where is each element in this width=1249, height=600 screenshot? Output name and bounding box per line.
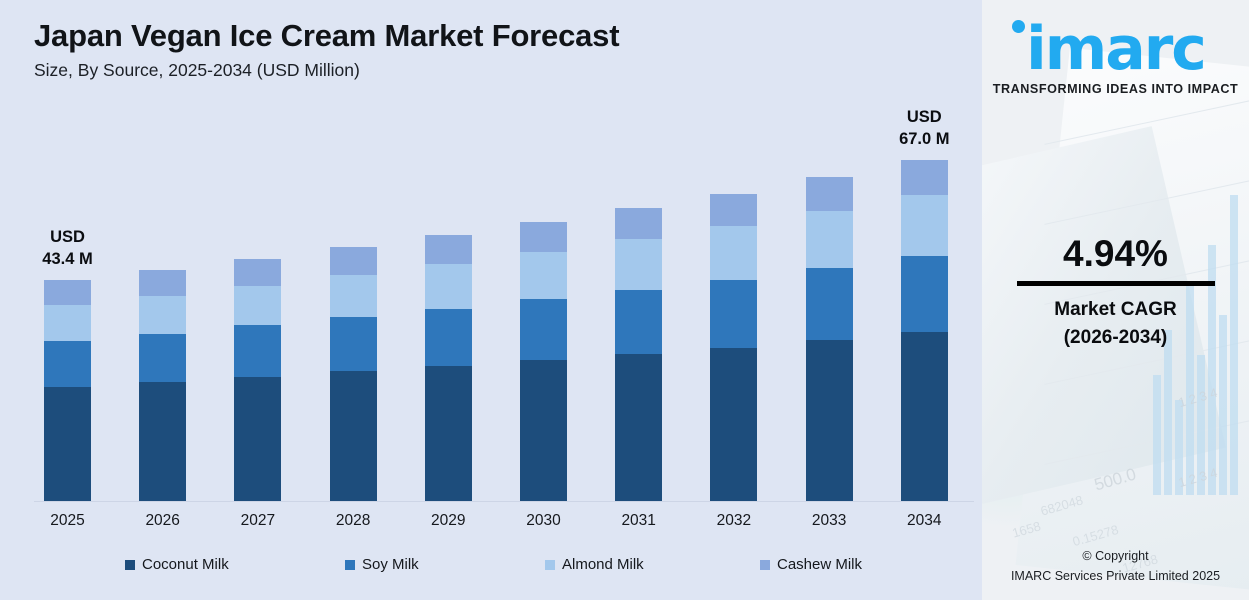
bar-segment-cashew-milk[interactable]: [710, 194, 757, 227]
x-tick-2028: 2028: [308, 512, 398, 530]
first-value-line2: 43.4 M: [8, 248, 128, 270]
bar-segment-coconut-milk[interactable]: [710, 348, 757, 501]
bar-segment-soy-milk[interactable]: [234, 325, 281, 376]
last-bar-value-label: USD 67.0 M: [864, 106, 984, 151]
bar-segment-almond-milk[interactable]: [234, 286, 281, 326]
bar-segment-almond-milk[interactable]: [806, 211, 853, 269]
x-tick-2027: 2027: [213, 512, 303, 530]
bar-segment-almond-milk[interactable]: [425, 264, 472, 309]
bar-segment-coconut-milk[interactable]: [330, 371, 377, 501]
x-axis-labels: 2025202620272028202920302031203220332034: [20, 512, 972, 536]
bar-group-2033[interactable]: [806, 177, 853, 501]
bar-segment-cashew-milk[interactable]: [44, 280, 91, 305]
x-tick-2031: 2031: [594, 512, 684, 530]
cagr-value: 4.94%: [982, 234, 1249, 275]
x-tick-2030: 2030: [499, 512, 589, 530]
bar-segment-soy-milk[interactable]: [44, 341, 91, 387]
bar-group-2032[interactable]: [710, 194, 757, 501]
x-tick-2034: 2034: [879, 512, 969, 530]
legend-item-coconut-milk[interactable]: Coconut Milk: [125, 556, 229, 573]
bar-segment-cashew-milk[interactable]: [806, 177, 853, 211]
first-bar-value-label: USD 43.4 M: [8, 226, 128, 271]
bar-segment-soy-milk[interactable]: [615, 290, 662, 354]
bar-segment-cashew-milk[interactable]: [520, 222, 567, 252]
bar-group-2025[interactable]: [44, 280, 91, 501]
bar-segment-coconut-milk[interactable]: [44, 387, 91, 502]
last-value-line2: 67.0 M: [864, 128, 984, 150]
bar-segment-coconut-milk[interactable]: [520, 360, 567, 501]
last-value-line1: USD: [907, 108, 942, 126]
bar-segment-soy-milk[interactable]: [330, 317, 377, 371]
x-tick-2025: 2025: [23, 512, 113, 530]
bar-segment-soy-milk[interactable]: [710, 280, 757, 348]
bar-segment-cashew-milk[interactable]: [615, 208, 662, 239]
copyright-block: © Copyright IMARC Services Private Limit…: [982, 547, 1249, 586]
chart-legend: Coconut MilkSoy MilkAlmond MilkCashew Mi…: [20, 556, 972, 580]
bar-group-2028[interactable]: [330, 247, 377, 501]
bar-segment-cashew-milk[interactable]: [330, 247, 377, 275]
bar-segment-almond-milk[interactable]: [520, 252, 567, 300]
legend-item-cashew-milk[interactable]: Cashew Milk: [760, 556, 862, 573]
decorative-mini-bar: [1153, 375, 1161, 495]
decorative-grid-line: [1044, 96, 1249, 145]
bar-segment-coconut-milk[interactable]: [139, 382, 186, 501]
chart-header: Japan Vegan Ice Cream Market Forecast Si…: [34, 18, 619, 81]
bar-group-2026[interactable]: [139, 270, 186, 501]
bar-segment-almond-milk[interactable]: [330, 275, 377, 317]
bar-group-2029[interactable]: [425, 235, 472, 501]
chart-panel: Japan Vegan Ice Cream Market Forecast Si…: [0, 0, 982, 600]
bar-segment-soy-milk[interactable]: [901, 256, 948, 332]
imarc-logo: imarc TRANSFORMING IDEAS INTO IMPACT: [982, 18, 1249, 96]
bar-segment-coconut-milk[interactable]: [901, 332, 948, 501]
brand-panel: 500.0 1 2 3 4 1 2 3 4 0.15278 1658 12768…: [982, 0, 1249, 600]
cagr-block: 4.94% Market CAGR (2026-2034): [982, 234, 1249, 353]
x-tick-2032: 2032: [689, 512, 779, 530]
logo-dot-icon: [1012, 20, 1025, 33]
cagr-divider: [1017, 281, 1215, 286]
bar-segment-coconut-milk[interactable]: [234, 377, 281, 501]
bar-segment-almond-milk[interactable]: [615, 239, 662, 290]
bar-segment-soy-milk[interactable]: [139, 334, 186, 382]
bar-group-2030[interactable]: [520, 222, 567, 501]
x-tick-2026: 2026: [118, 512, 208, 530]
cagr-label-line1: Market CAGR: [982, 296, 1249, 325]
bar-segment-almond-milk[interactable]: [901, 195, 948, 256]
bar-segment-almond-milk[interactable]: [44, 305, 91, 341]
bar-segment-soy-milk[interactable]: [806, 268, 853, 340]
logo-tagline: TRANSFORMING IDEAS INTO IMPACT: [982, 82, 1249, 96]
legend-item-almond-milk[interactable]: Almond Milk: [545, 556, 644, 573]
bar-segment-cashew-milk[interactable]: [234, 259, 281, 286]
bar-group-2027[interactable]: [234, 259, 281, 501]
page-title: Japan Vegan Ice Cream Market Forecast: [34, 18, 619, 55]
chart-subtitle: Size, By Source, 2025-2034 (USD Million): [34, 60, 619, 81]
x-tick-2029: 2029: [403, 512, 493, 530]
copyright-line2: IMARC Services Private Limited 2025: [982, 567, 1249, 586]
infographic-root: Japan Vegan Ice Cream Market Forecast Si…: [0, 0, 1249, 600]
bar-segment-soy-milk[interactable]: [520, 299, 567, 360]
bar-segment-cashew-milk[interactable]: [139, 270, 186, 296]
bar-segment-coconut-milk[interactable]: [425, 366, 472, 501]
legend-label: Soy Milk: [362, 556, 419, 573]
bar-segment-soy-milk[interactable]: [425, 309, 472, 366]
x-axis-baseline: [34, 501, 974, 502]
bar-segment-coconut-milk[interactable]: [615, 354, 662, 501]
cagr-label-line2: (2026-2034): [982, 324, 1249, 353]
legend-swatch-icon: [345, 560, 355, 570]
legend-label: Almond Milk: [562, 556, 644, 573]
logo-mark: imarc: [998, 18, 1234, 80]
copyright-line1: © Copyright: [982, 547, 1249, 566]
legend-swatch-icon: [125, 560, 135, 570]
bar-segment-cashew-milk[interactable]: [901, 160, 948, 195]
first-value-line1: USD: [50, 228, 85, 246]
legend-swatch-icon: [760, 560, 770, 570]
legend-swatch-icon: [545, 560, 555, 570]
decorative-mini-bar: [1164, 330, 1172, 495]
logo-wordmark: imarc: [1026, 14, 1205, 84]
bar-group-2031[interactable]: [615, 208, 662, 501]
legend-item-soy-milk[interactable]: Soy Milk: [345, 556, 419, 573]
plot-area: [20, 108, 972, 503]
legend-label: Cashew Milk: [777, 556, 862, 573]
x-tick-2033: 2033: [784, 512, 874, 530]
bar-segment-cashew-milk[interactable]: [425, 235, 472, 264]
bar-group-2034[interactable]: [901, 160, 948, 501]
bar-segment-almond-milk[interactable]: [139, 296, 186, 334]
bar-segment-coconut-milk[interactable]: [806, 340, 853, 501]
legend-label: Coconut Milk: [142, 556, 229, 573]
bar-segment-almond-milk[interactable]: [710, 226, 757, 280]
